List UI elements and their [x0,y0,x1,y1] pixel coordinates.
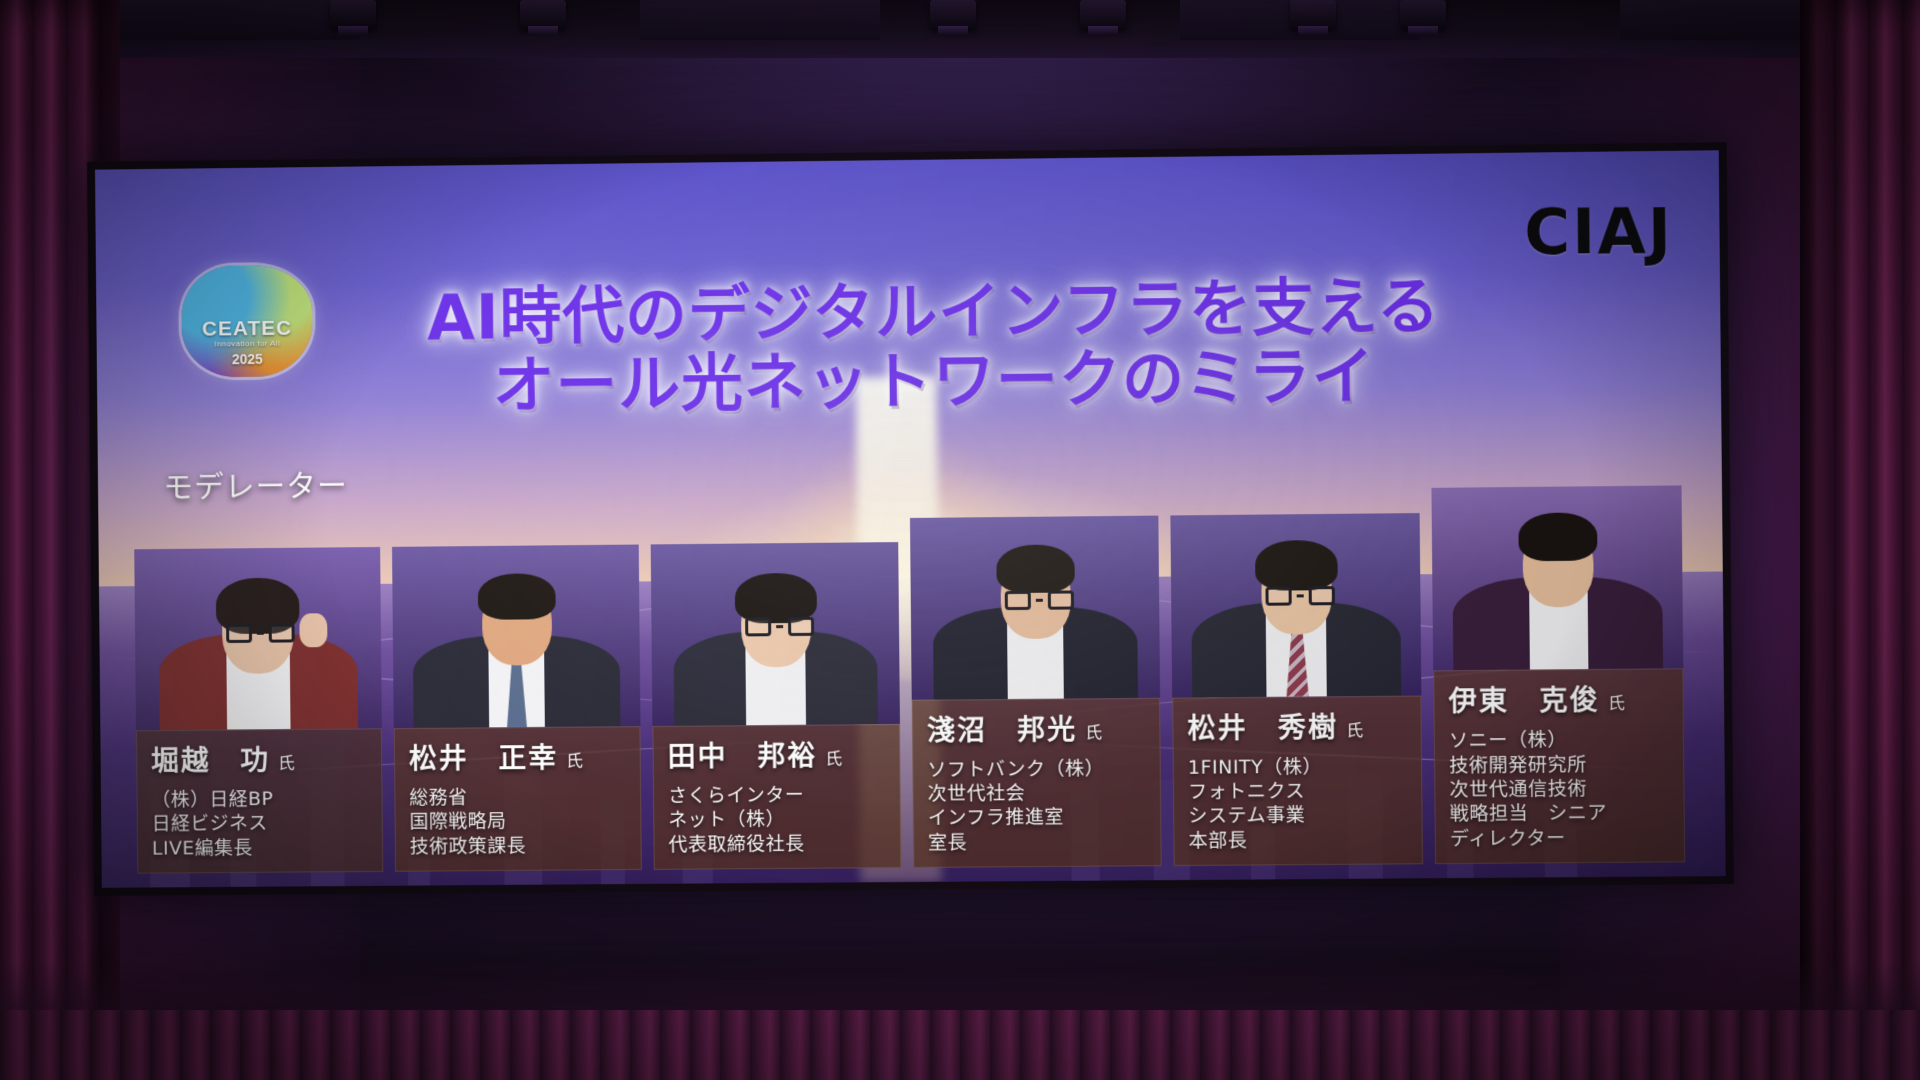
stage-light-fixture [1290,0,1336,30]
slide-title: AI時代のデジタルインフラを支える オール光ネットワークのミライ [344,271,1526,423]
affiliation-line: 国際戦略局 [409,809,628,835]
ceiling-truss [640,0,880,40]
portrait-glasses [226,624,295,644]
speaker-card: 伊東 克俊氏 ソニー（株） 技術開発研究所 次世代通信技術 戦略担当 シニア デ… [1431,486,1685,864]
speaker-portrait [1170,513,1421,698]
speaker-card: 松井 秀樹氏 1FINITY（株） フォトニクス システム事業 本部長 [1170,513,1423,866]
stage-skirt [0,1010,1920,1080]
speaker-name: 松井 秀樹 [1187,710,1338,744]
portrait-hair [1518,513,1597,562]
portrait-hair [478,573,556,620]
affiliation-line: 戦略担当 シニア [1450,800,1672,826]
affiliation-line: 1FINITY（株） [1188,754,1409,780]
speaker-card: 松井 正幸氏 総務省 国際戦略局 技術政策課長 [392,545,642,872]
speaker-info-card: 淺沼 邦光氏 ソフトバンク（株） 次世代社会 インフラ推進室 室長 [912,698,1162,868]
speaker-info-card: 松井 秀樹氏 1FINITY（株） フォトニクス システム事業 本部長 [1172,695,1423,866]
speaker-portrait [134,547,382,730]
speaker-info-card: 松井 正幸氏 総務省 国際戦略局 技術政策課長 [394,726,642,871]
speaker-info-card: 田中 邦裕氏 さくらインター ネット（株） 代表取締役社長 [652,724,901,870]
speaker-name-row: 松井 秀樹氏 [1187,705,1408,747]
affiliation-line: 技術開発研究所 [1449,752,1671,778]
affiliation-line: 室長 [928,829,1149,855]
presentation-slide: CIAJ CEATEC Innovation for All 2025 AI時代… [95,150,1726,888]
speaker-portrait [651,542,900,726]
stage-light-fixture [1080,0,1126,30]
speaker-name-suffix: 氏 [278,754,295,774]
speaker-name-row: 松井 正幸氏 [409,735,628,777]
affiliation-line: ソニー（株） [1449,727,1671,753]
speaker-name-row: 堀越 功氏 [151,737,369,779]
affiliation-line: 次世代社会 [928,780,1149,806]
portrait-glasses [1265,586,1335,606]
speaker-affiliation: 総務省 国際戦略局 技術政策課長 [409,784,629,858]
ciaj-logo-text: CIAJ [1524,194,1674,269]
speaker-name-row: 淺沼 邦光氏 [927,707,1148,749]
speaker-affiliation: さくらインター ネット（株） 代表取締役社長 [668,782,888,857]
speaker-affiliation: （株）日経BP 日経ビジネス LIVE編集長 [151,786,370,860]
affiliation-line: 本部長 [1188,827,1409,853]
speaker-name-suffix: 氏 [1346,721,1363,741]
stage-light-fixture [330,0,376,30]
speaker-info-card: 伊東 克俊氏 ソニー（株） 技術開発研究所 次世代通信技術 戦略担当 シニア デ… [1433,669,1685,864]
affiliation-line: ネット（株） [668,807,888,833]
speaker-name-suffix: 氏 [566,752,583,772]
affiliation-line: さくらインター [668,782,888,808]
speaker-name-suffix: 氏 [825,750,842,770]
affiliation-line: ディレクター [1450,825,1672,851]
speaker-name-suffix: 氏 [1085,723,1102,743]
speaker-info-card: 堀越 功氏 （株）日経BP 日経ビジネス LIVE編集長 [136,728,383,873]
speaker-name: 松井 正幸 [409,741,558,775]
speaker-affiliation: ソニー（株） 技術開発研究所 次世代通信技術 戦略担当 シニア ディレクター [1449,727,1672,851]
speaker-name-suffix: 氏 [1608,694,1625,714]
affiliation-line: システム事業 [1188,802,1409,828]
portrait-hand [299,613,327,647]
affiliation-line: 代表取締役社長 [668,831,888,857]
affiliation-line: （株）日経BP [151,786,369,812]
speaker-name: 伊東 克俊 [1448,684,1600,718]
speaker-list: 堀越 功氏 （株）日経BP 日経ビジネス LIVE編集長 [134,490,1718,874]
slide-title-line-2: オール光ネットワークのミライ [345,341,1526,423]
ceatec-logo-tagline: Innovation for All [182,338,313,348]
projection-screen: CIAJ CEATEC Innovation for All 2025 AI時代… [87,142,1734,896]
ceiling-truss [120,0,360,40]
portrait-hair [1255,540,1338,591]
ceatec-logo-year: 2025 [182,350,313,367]
speaker-portrait [392,545,640,729]
affiliation-line: インフラ推進室 [928,805,1149,831]
speaker-name: 田中 邦裕 [667,739,817,773]
stage-light-fixture [930,0,976,30]
affiliation-line: ソフトバンク（株） [927,756,1148,782]
conference-hall-room: CIAJ CEATEC Innovation for All 2025 AI時代… [0,0,1920,1080]
speaker-card: 田中 邦裕氏 さくらインター ネット（株） 代表取締役社長 [651,542,902,870]
ciaj-logo: CIAJ [1400,193,1673,270]
affiliation-line: 総務省 [409,784,628,810]
moderator-label: モデレーター [163,461,348,507]
speaker-portrait [1431,486,1683,671]
stage-light-fixture [520,0,566,30]
affiliation-line: 技術政策課長 [410,833,629,859]
speaker-affiliation: 1FINITY（株） フォトニクス システム事業 本部長 [1188,754,1410,853]
stage-curtain-right [1800,0,1920,1080]
affiliation-line: 日経ビジネス [152,811,370,837]
portrait-hair [996,544,1075,593]
stage-light-fixture [1400,0,1446,30]
speaker-portrait [910,515,1160,699]
speaker-card: 堀越 功氏 （株）日経BP 日経ビジネス LIVE編集長 [134,547,383,874]
speaker-name: 堀越 功 [151,743,270,777]
speaker-card: 淺沼 邦光氏 ソフトバンク（株） 次世代社会 インフラ推進室 室長 [910,515,1162,868]
portrait-glasses [1005,590,1074,610]
affiliation-line: LIVE編集長 [152,835,370,861]
speaker-affiliation: ソフトバンク（株） 次世代社会 インフラ推進室 室長 [927,756,1148,855]
affiliation-line: フォトニクス [1188,778,1409,804]
speaker-name-row: 田中 邦裕氏 [667,733,887,775]
speaker-name: 淺沼 邦光 [927,712,1077,746]
affiliation-line: 次世代通信技術 [1449,776,1671,802]
ceatec-logo: CEATEC Innovation for All 2025 [181,265,313,378]
portrait-glasses [745,617,814,637]
speaker-name-row: 伊東 克俊氏 [1448,678,1670,720]
